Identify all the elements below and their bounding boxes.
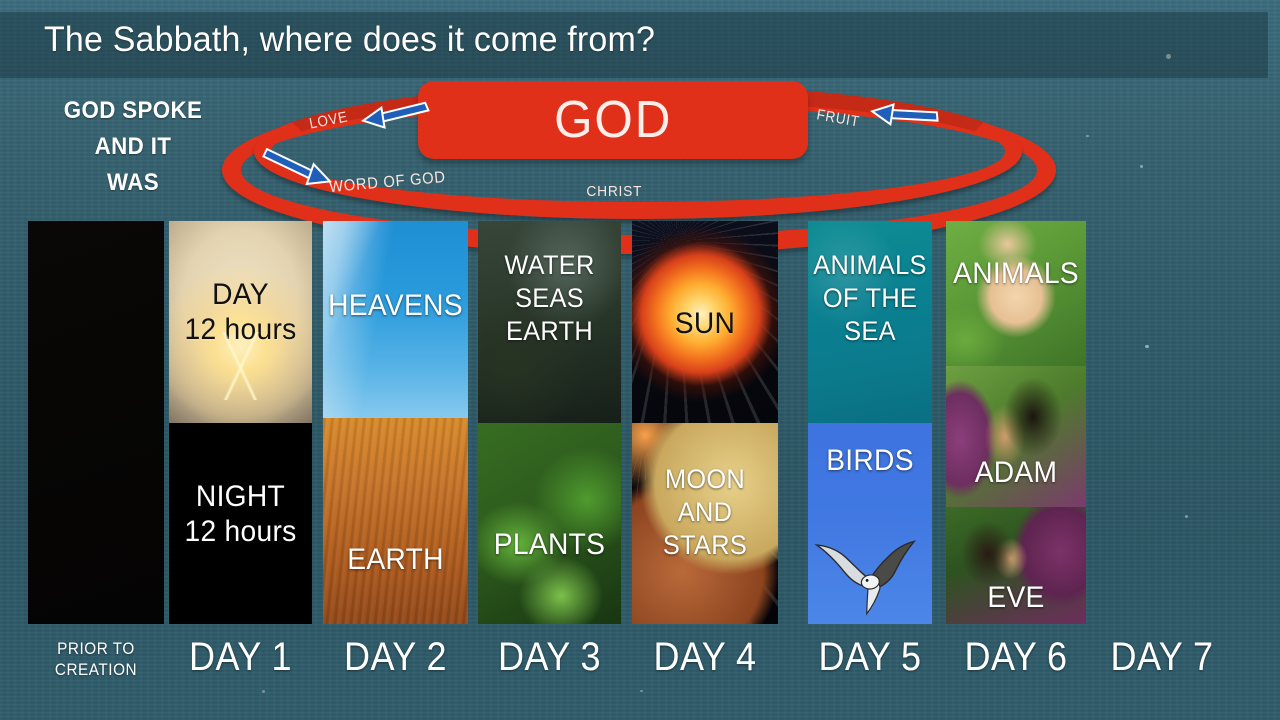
day-caption: DAY 6 <box>953 636 1079 678</box>
arrow-left-icon <box>864 103 940 127</box>
panel-label: HEAVENS <box>327 288 463 323</box>
timeline-panel: ANIMALS <box>946 221 1086 366</box>
paint-speck <box>1140 165 1143 168</box>
panel-label: EVE <box>950 580 1082 615</box>
panel-label: BIRDS <box>812 443 929 478</box>
timeline-panel: SUN <box>632 221 778 423</box>
day-caption: DAY 4 <box>639 636 770 678</box>
bird-icon <box>812 529 927 624</box>
day-caption: DAY 5 <box>814 636 926 678</box>
timeline-panel: BIRDS <box>808 423 932 625</box>
god-label: GOD <box>554 90 672 150</box>
day-caption: PRIOR TO CREATION <box>35 638 157 680</box>
day-caption: DAY 2 <box>330 636 461 678</box>
timeline-panel: WATER SEAS EARTH <box>478 221 621 423</box>
timeline-panel: ADAM <box>946 366 1086 507</box>
timeline-column <box>28 221 164 624</box>
panel-label: MOON AND STARS <box>636 463 773 562</box>
panel-label: PLANTS <box>482 527 616 562</box>
timeline-panel: EVE <box>946 507 1086 624</box>
timeline-column: WATER SEAS EARTHPLANTS <box>478 221 621 624</box>
timeline-panel: DAY 12 hours <box>169 221 312 423</box>
timeline-panel: EARTH <box>323 418 468 624</box>
panel-label: NIGHT 12 hours <box>173 479 307 549</box>
panel-label: DAY 12 hours <box>173 277 307 347</box>
paint-speck <box>640 690 643 692</box>
paint-speck <box>1145 345 1149 348</box>
timeline-column: ANIMALS OF THE SEABIRDS <box>808 221 932 624</box>
god-spoke-caption: GOD SPOKE AND IT WAS <box>40 93 226 201</box>
god-center-plate: GOD <box>418 81 808 159</box>
panel-label: WATER SEAS EARTH <box>482 249 616 348</box>
panel-label: SUN <box>636 306 773 341</box>
timeline-panel <box>28 221 164 624</box>
god-ring-diagram: GOD LOVE FRUIT WORD OF GOD CHRIST <box>222 84 1022 219</box>
timeline-column: DAY 12 hoursNIGHT 12 hours <box>169 221 312 624</box>
paint-speck <box>1185 515 1188 518</box>
timeline-panel: HEAVENS <box>323 221 468 418</box>
god-spoke-line-2: AND IT <box>40 129 226 165</box>
arrow-left-icon <box>355 105 431 129</box>
timeline-column: SUNMOON AND STARS <box>632 221 778 624</box>
panel-label: ANIMALS OF THE SEA <box>812 249 929 348</box>
day-caption: DAY 3 <box>485 636 614 678</box>
arrow-right-icon <box>258 155 342 185</box>
timeline-column: ANIMALSADAMEVE <box>946 221 1086 624</box>
paint-speck <box>1086 135 1089 137</box>
timeline-panel: PLANTS <box>478 423 621 625</box>
panel-label: ADAM <box>950 455 1082 490</box>
slide-canvas: The Sabbath, where does it come from? GO… <box>0 0 1280 720</box>
god-spoke-line-3: WAS <box>40 165 226 201</box>
day-caption: DAY 1 <box>176 636 305 678</box>
paint-speck <box>262 690 265 693</box>
timeline-panel: MOON AND STARS <box>632 423 778 625</box>
ring-label-christ: CHRIST <box>586 183 642 200</box>
panel-label: EARTH <box>327 542 463 577</box>
timeline-panel: ANIMALS OF THE SEA <box>808 221 932 423</box>
timeline-panel: NIGHT 12 hours <box>169 423 312 625</box>
day-caption: DAY 7 <box>1099 636 1225 678</box>
page-title: The Sabbath, where does it come from? <box>44 20 655 60</box>
panel-label: ANIMALS <box>950 256 1082 291</box>
timeline-column: HEAVENSEARTH <box>323 221 468 624</box>
god-spoke-line-1: GOD SPOKE <box>40 93 226 129</box>
